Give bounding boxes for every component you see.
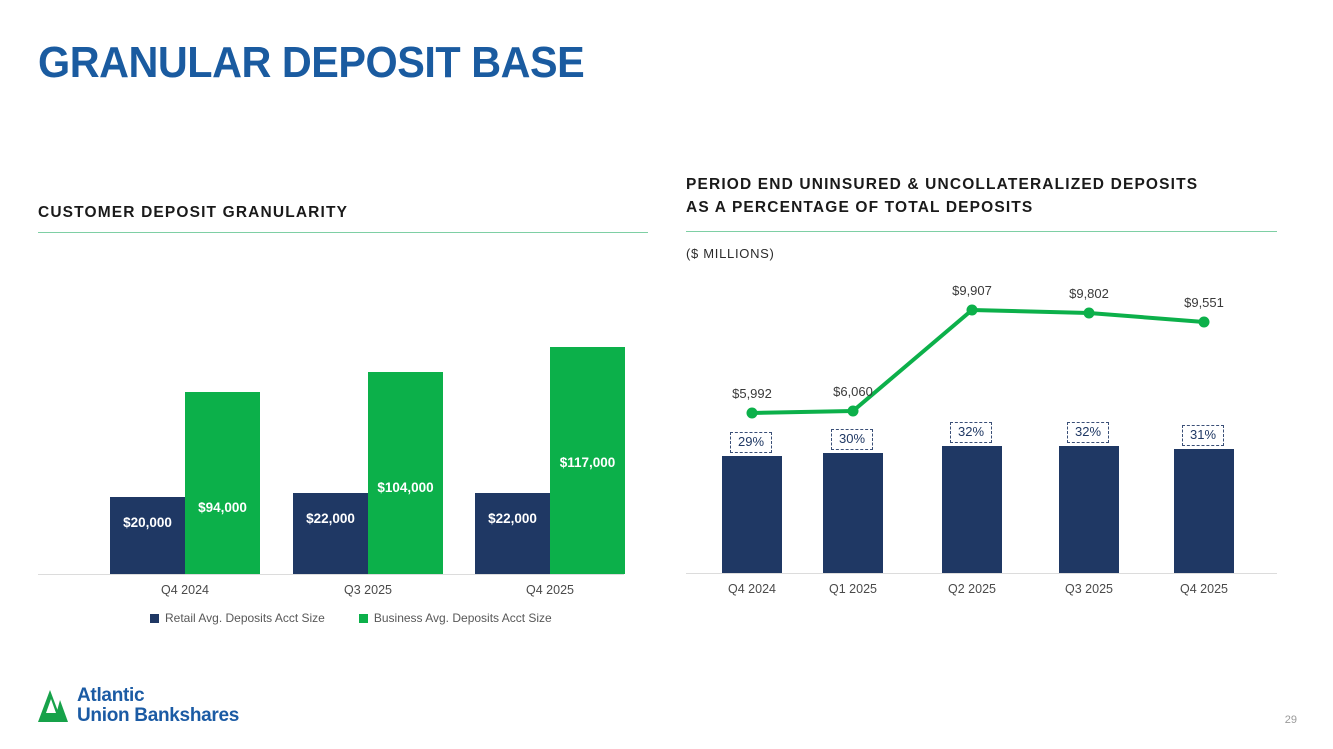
- bar-label-business-0: $94,000: [185, 500, 260, 515]
- left-chart-legend: Retail Avg. Deposits Acct SizeBusiness A…: [150, 611, 552, 625]
- bar-label-retail-1: $22,000: [293, 511, 368, 526]
- mountain-a-mark-icon: [38, 689, 68, 723]
- percent-callout-2: 32%: [950, 422, 992, 443]
- bar-uninsured-pct-q4-2025: [1174, 449, 1234, 573]
- line-value-label-4: $9,551: [1144, 295, 1264, 310]
- right-chart-units-note: ($ MILLIONS): [686, 246, 775, 261]
- logo-wordmark: Atlantic Union Bankshares: [77, 686, 239, 727]
- x-axis-label-0: Q4 2024: [125, 583, 245, 597]
- logo-line-2: Union Bankshares: [77, 706, 239, 726]
- bar-business-q4-2024: [185, 392, 260, 574]
- bar-uninsured-pct-q4-2024: [722, 456, 782, 573]
- bar-uninsured-pct-q1-2025: [823, 453, 883, 573]
- logo-line-1: Atlantic: [77, 686, 239, 706]
- line-value-label-3: $9,802: [1029, 286, 1149, 301]
- bar-uninsured-pct-q3-2025: [1059, 446, 1119, 573]
- percent-callout-0: 29%: [730, 432, 772, 453]
- x-axis-label-2: Q2 2025: [912, 582, 1032, 596]
- left-heading-rule: [38, 232, 648, 233]
- line-marker-2: [967, 305, 978, 316]
- line-marker-4: [1199, 317, 1210, 328]
- percent-callout-4: 31%: [1182, 425, 1224, 446]
- x-axis-label-1: Q3 2025: [308, 583, 428, 597]
- legend-item-retail: Retail Avg. Deposits Acct Size: [150, 611, 325, 625]
- left-chart-axis: [38, 574, 624, 575]
- legend-label: Business Avg. Deposits Acct Size: [374, 611, 552, 625]
- right-heading-rule: [686, 231, 1277, 232]
- line-marker-0: [747, 408, 758, 419]
- bar-retail-q3-2025: [293, 493, 368, 574]
- bar-business-q3-2025: [368, 372, 443, 574]
- x-axis-label-4: Q4 2025: [1144, 582, 1264, 596]
- bar-label-business-2: $117,000: [550, 455, 625, 470]
- bar-label-retail-2: $22,000: [475, 511, 550, 526]
- x-axis-label-2: Q4 2025: [490, 583, 610, 597]
- right-chart-heading: PERIOD END UNINSURED & UNCOLLATERALIZED …: [686, 174, 1286, 220]
- line-marker-1: [848, 406, 859, 417]
- legend-item-business: Business Avg. Deposits Acct Size: [359, 611, 552, 625]
- legend-label: Retail Avg. Deposits Acct Size: [165, 611, 325, 625]
- line-value-label-2: $9,907: [912, 283, 1032, 298]
- uninsured-deposits-chart: 29%Q4 202430%Q1 202532%Q2 202532%Q3 2025…: [686, 280, 1286, 575]
- left-chart-heading: CUSTOMER DEPOSIT GRANULARITY: [38, 202, 348, 225]
- bar-retail-q4-2024: [110, 497, 185, 574]
- line-value-label-1: $6,060: [793, 384, 913, 399]
- x-axis-label-1: Q1 2025: [793, 582, 913, 596]
- percent-callout-1: 30%: [831, 429, 873, 450]
- percent-callout-3: 32%: [1067, 422, 1109, 443]
- bar-uninsured-pct-q2-2025: [942, 446, 1002, 573]
- bar-label-business-1: $104,000: [368, 480, 443, 495]
- legend-swatch-icon: [150, 614, 159, 623]
- right-chart-heading-line-1: PERIOD END UNINSURED & UNCOLLATERALIZED …: [686, 176, 1198, 193]
- customer-deposit-granularity-chart: $20,000$94,000Q4 2024$22,000$104,000Q3 2…: [38, 300, 648, 575]
- page-number: 29: [1285, 714, 1297, 726]
- company-logo: Atlantic Union Bankshares: [38, 686, 239, 727]
- slide-canvas: GRANULAR DEPOSIT BASE CUSTOMER DEPOSIT G…: [0, 0, 1333, 749]
- page-title: GRANULAR DEPOSIT BASE: [38, 38, 584, 88]
- bar-label-retail-0: $20,000: [110, 515, 185, 530]
- bar-retail-q4-2025: [475, 493, 550, 574]
- legend-swatch-icon: [359, 614, 368, 623]
- x-axis-label-3: Q3 2025: [1029, 582, 1149, 596]
- right-chart-heading-line-2: AS A PERCENTAGE OF TOTAL DEPOSITS: [686, 199, 1033, 216]
- line-marker-3: [1084, 308, 1095, 319]
